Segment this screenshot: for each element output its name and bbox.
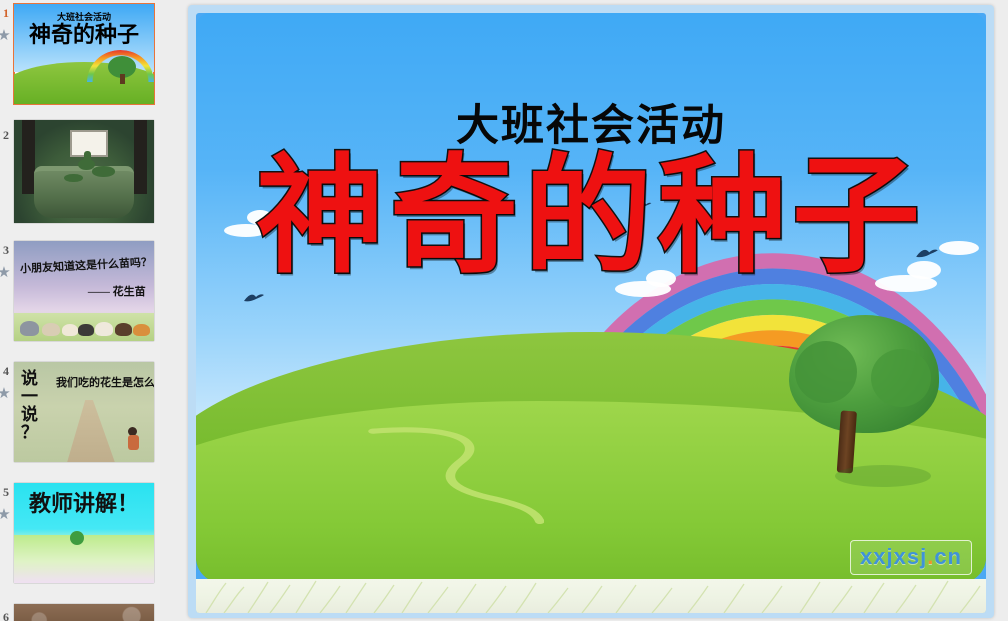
mini-ground [14, 535, 154, 583]
mini-question-text: 我们吃的花生是怎么来的？ [56, 374, 154, 390]
mini-child-body [128, 435, 139, 450]
pet-animal [115, 323, 132, 336]
bird-icon [243, 292, 265, 304]
watermark: xxjxsj.cn [850, 540, 972, 575]
tree-trunk [836, 411, 856, 474]
slide-title: 神奇的种子 [196, 153, 986, 281]
pet-animal [95, 322, 113, 336]
photo-flower-pot [34, 166, 135, 217]
pet-animal [133, 324, 150, 336]
winding-path [354, 423, 544, 526]
star-icon-slide-5[interactable]: ★ [0, 507, 12, 523]
pet-animal [20, 321, 40, 336]
tree-shadow [835, 465, 931, 487]
mini-slide-1: 大班社会活动 神奇的种子 [14, 4, 154, 104]
mini-tree-trunk [120, 74, 124, 84]
photo-pillar-right [134, 120, 147, 194]
powerpoint-viewer: 1 ★ 大班社会活动 神奇的种子 2 [0, 0, 1008, 621]
slide-stage: 大班社会活动 神奇的种子 xxjxsj.cn [175, 0, 1008, 621]
pet-animal [78, 324, 93, 336]
pet-animal [62, 324, 79, 336]
thumbnail-canvas-5[interactable]: 教师讲解！ [14, 483, 154, 583]
mini-pets-ground [14, 313, 154, 341]
mini-prompt-vertical: 说 一 说 ？ [21, 370, 38, 441]
watermark-text-a: xxjxsj [860, 544, 927, 569]
thumbnail-slide-4[interactable]: 4 ★ 说 一 说 ？ 我们吃的花生是怎么来的？ [0, 362, 160, 468]
current-slide[interactable]: 大班社会活动 神奇的种子 xxjxsj.cn [196, 13, 986, 613]
mini-title-main-1: 神奇的种子 [14, 24, 154, 46]
thumbnail-number-4: 4 [3, 364, 9, 379]
thumbnail-number-5: 5 [3, 485, 9, 500]
mini-road [67, 400, 115, 462]
mini-teacher-explain-title: 教师讲解！ [14, 493, 154, 515]
tree [789, 315, 939, 505]
thumbnail-slide-6[interactable]: 6 [0, 604, 160, 621]
star-icon-slide-1[interactable]: ★ [0, 28, 12, 44]
thumbnail-slide-3[interactable]: 3 ★ 小朋友知道这是什么苗吗？ —— 花生苗 [0, 241, 160, 347]
mini-answer-line: —— 花生苗 [88, 283, 146, 299]
thumbnail-canvas-4[interactable]: 说 一 说 ？ 我们吃的花生是怎么来的？ [14, 362, 154, 462]
thumbnail-slide-5[interactable]: 5 ★ 教师讲解！ [0, 483, 160, 589]
mini-slide-5: 教师讲解！ [14, 483, 154, 583]
slide-subtitle: 大班社会活动 [196, 91, 986, 153]
tree-foliage-lobe [871, 349, 931, 407]
photo-stem [84, 151, 91, 170]
star-icon-slide-3[interactable]: ★ [0, 265, 12, 281]
thumbnail-slide-1[interactable]: 1 ★ 大班社会活动 神奇的种子 [0, 4, 160, 110]
star-icon-slide-4[interactable]: ★ [0, 386, 12, 402]
pet-animal [42, 323, 60, 336]
photo-leaf [92, 166, 114, 176]
thumbnail-canvas-6[interactable] [14, 604, 154, 621]
thumbnail-canvas-2[interactable] [14, 120, 154, 223]
grass-blades [196, 579, 986, 613]
grass-texture-strip [196, 579, 986, 613]
mini-photo-potted-plant [14, 120, 154, 223]
photo-leaf [64, 174, 82, 182]
mini-photo-soil [14, 604, 154, 621]
watermark-text-b: cn [934, 544, 962, 569]
mini-question-line-1: 小朋友知道这是什么苗吗？ [19, 254, 152, 277]
slide-frame-border: 大班社会活动 神奇的种子 xxjxsj.cn [188, 5, 994, 618]
slide-thumbnail-sidebar[interactable]: 1 ★ 大班社会活动 神奇的种子 2 [0, 0, 160, 621]
thumbnail-number-3: 3 [3, 243, 9, 258]
mini-slide-4: 说 一 说 ？ 我们吃的花生是怎么来的？ [14, 362, 154, 462]
thumbnail-slide-2[interactable]: 2 [0, 120, 160, 226]
thumbnail-number-6: 6 [3, 610, 9, 621]
mini-slide-3: 小朋友知道这是什么苗吗？ —— 花生苗 [14, 241, 154, 341]
thumbnail-number-1: 1 [3, 6, 9, 21]
thumbnail-canvas-1[interactable]: 大班社会活动 神奇的种子 [14, 4, 154, 104]
thumbnail-canvas-3[interactable]: 小朋友知道这是什么苗吗？ —— 花生苗 [14, 241, 154, 341]
thumbnail-number-2: 2 [3, 128, 9, 143]
tree-foliage-lobe [795, 341, 857, 403]
mini-child-figure [70, 531, 84, 545]
